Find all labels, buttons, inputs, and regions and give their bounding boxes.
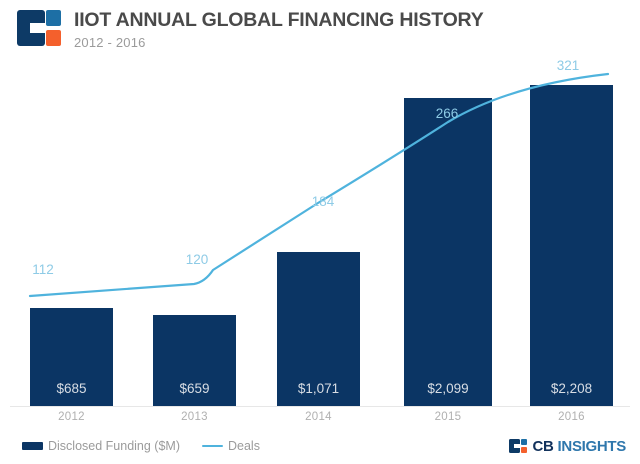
- attribution-name-insights: INSIGHTS: [558, 438, 626, 455]
- legend-bar-swatch-icon: [22, 442, 43, 450]
- infographic-root: IIOT ANNUAL GLOBAL FINANCING HISTORY 201…: [0, 0, 640, 464]
- legend-label-deals: Deals: [228, 439, 260, 453]
- logo-c-notch-small: [514, 444, 521, 448]
- cb-insights-mark-icon-small: [509, 439, 527, 453]
- cb-insights-mark-icon: [17, 10, 61, 46]
- bar-value-label-2016: $2,208: [551, 381, 592, 396]
- legend-line-swatch-icon: [202, 445, 223, 448]
- line-value-label-2015: 266: [436, 106, 459, 121]
- x-tick-2012: 2012: [30, 407, 113, 428]
- line-value-label-2016: 321: [557, 58, 580, 73]
- x-tick-2014: 2014: [277, 407, 360, 428]
- logo-square-orange-small: [521, 447, 527, 453]
- logo-c-shape-small: [509, 439, 520, 453]
- bar-value-label-2012: $685: [56, 381, 86, 396]
- legend-item-disclosed-funding[interactable]: Disclosed Funding ($M): [22, 439, 180, 453]
- title-block: IIOT ANNUAL GLOBAL FINANCING HISTORY 201…: [74, 9, 484, 51]
- logo-c-shape: [17, 10, 45, 46]
- bar-value-label-2014: $1,071: [298, 381, 339, 396]
- chart-subtitle: 2012 - 2016: [74, 34, 484, 51]
- x-tick-2016: 2016: [530, 407, 613, 428]
- logo-square-blue-small: [521, 439, 527, 445]
- bars-group: [30, 85, 613, 406]
- chart-footer: Disclosed Funding ($M) Deals CB INSIGHTS: [0, 428, 640, 464]
- chart-legend: Disclosed Funding ($M) Deals: [22, 439, 260, 453]
- x-axis-labels: 2012 2013 2014 2015 2016: [0, 407, 640, 428]
- chart-title: IIOT ANNUAL GLOBAL FINANCING HISTORY: [74, 9, 484, 31]
- chart-header: IIOT ANNUAL GLOBAL FINANCING HISTORY 201…: [0, 0, 640, 58]
- chart-svg: $685 $659 $1,071 $2,099 $2,208 112 120 1…: [0, 58, 640, 407]
- x-tick-2015: 2015: [404, 407, 492, 428]
- line-value-label-2012: 112: [32, 262, 54, 277]
- logo-square-blue: [46, 10, 61, 26]
- line-value-label-2013: 120: [186, 252, 209, 267]
- bar-value-label-2013: $659: [179, 381, 209, 396]
- x-tick-2013: 2013: [153, 407, 236, 428]
- plot-area: $685 $659 $1,071 $2,099 $2,208 112 120 1…: [0, 58, 640, 407]
- attribution-name-cb: CB: [532, 438, 553, 455]
- line-value-labels-group: 112 120 184 266 321: [32, 58, 579, 277]
- bar-value-label-2015: $2,099: [427, 381, 468, 396]
- bar-value-labels-group: $685 $659 $1,071 $2,099 $2,208: [56, 381, 592, 396]
- legend-item-deals[interactable]: Deals: [202, 439, 260, 453]
- logo-square-orange: [46, 30, 61, 46]
- legend-label-disclosed-funding: Disclosed Funding ($M): [48, 439, 180, 453]
- bar-2016[interactable]: [530, 85, 613, 406]
- bar-2015[interactable]: [404, 98, 492, 406]
- line-value-label-2014: 184: [312, 194, 335, 209]
- attribution-logo: CB INSIGHTS: [509, 438, 626, 455]
- logo-c-notch: [30, 23, 47, 33]
